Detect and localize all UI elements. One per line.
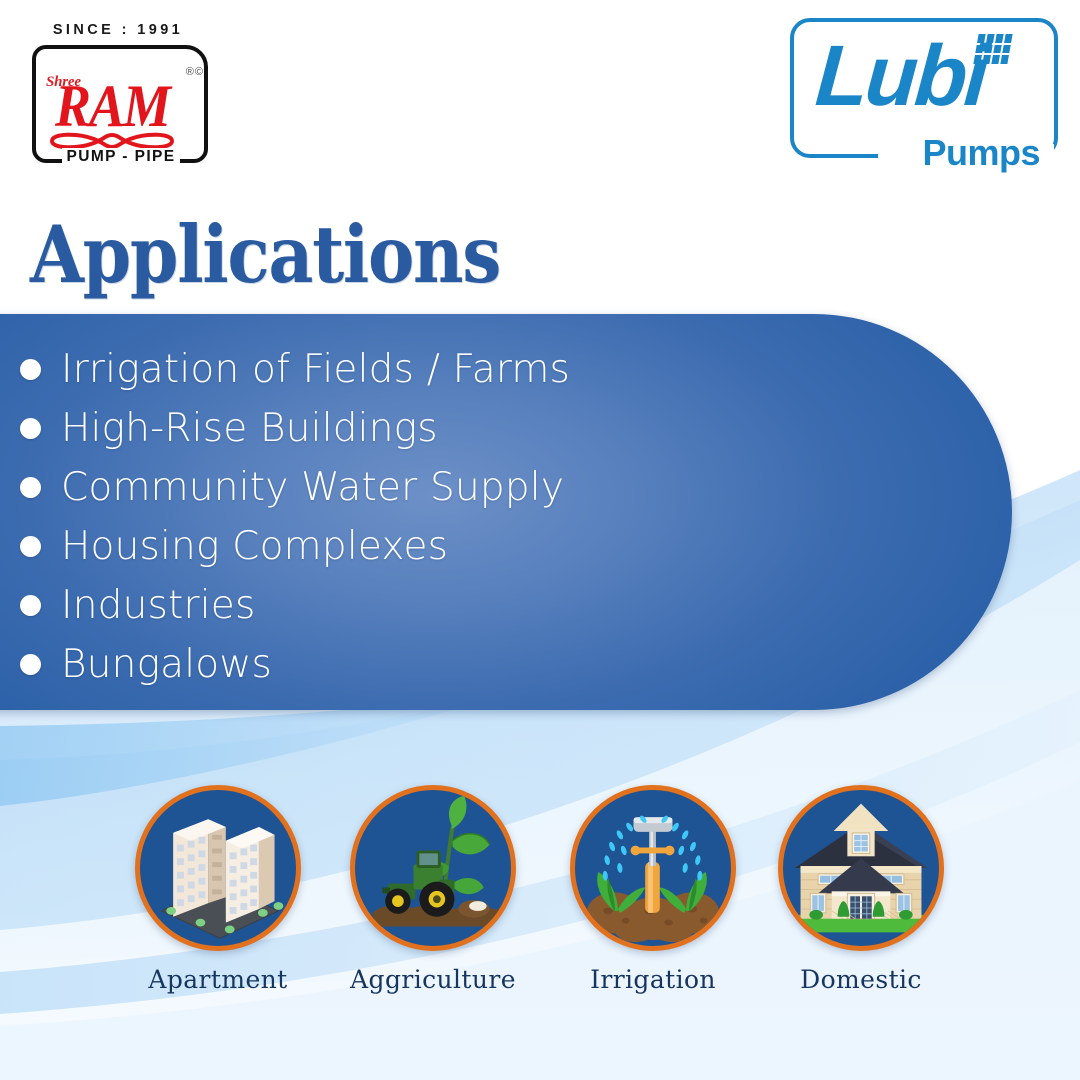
application-label: Irrigation of Fields / Farms: [61, 347, 570, 392]
list-item: Bungalows: [20, 635, 570, 694]
lubi-pumps-logo: Lubi Pumps: [790, 18, 1058, 168]
list-item: High-Rise Buildings: [20, 399, 570, 458]
icon-card-irrigation[interactable]: Irrigation: [570, 785, 736, 994]
icon-label: Irrigation: [570, 965, 736, 994]
bullet-icon: [20, 595, 41, 616]
list-item: Industries: [20, 576, 570, 635]
bullet-icon: [20, 477, 41, 498]
list-item: Housing Complexes: [20, 517, 570, 576]
application-label: Bungalows: [61, 642, 272, 687]
bullet-icon: [20, 536, 41, 557]
ram-since-text: SINCE : 1991: [18, 22, 218, 38]
lubi-wordmark: Lubi: [813, 28, 989, 124]
icon-label: Aggriculture: [350, 965, 516, 994]
page-title: Applications: [30, 212, 500, 298]
tractor-plant-icon: [350, 785, 516, 951]
list-item: Community Water Supply: [20, 458, 570, 517]
application-label: Housing Complexes: [61, 524, 448, 569]
bullet-icon: [20, 654, 41, 675]
poster-canvas: SINCE : 1991 Shree RAM ®© PUMP - PIPE Lu…: [0, 0, 1080, 1080]
icon-card-domestic[interactable]: Domestic: [778, 785, 944, 994]
list-item: Irrigation of Fields / Farms: [20, 340, 570, 399]
icon-label: Apartment: [135, 965, 301, 994]
lubi-sub-wordmark: Pumps: [914, 132, 1048, 174]
ram-wordmark: RAM: [42, 77, 182, 135]
shree-ram-logo: SINCE : 1991 Shree RAM ®© PUMP - PIPE: [18, 22, 218, 168]
application-label: Community Water Supply: [61, 465, 564, 510]
application-label: Industries: [61, 583, 256, 628]
ram-tagline: PUMP - PIPE: [62, 148, 180, 166]
application-label: High-Rise Buildings: [61, 406, 438, 451]
icon-card-agriculture[interactable]: Aggriculture: [350, 785, 516, 994]
bullet-icon: [20, 418, 41, 439]
applications-panel: Irrigation of Fields / Farms High-Rise B…: [0, 314, 1012, 710]
apartment-buildings-icon: [135, 785, 301, 951]
grid-dots-icon: [973, 34, 1012, 64]
icon-card-apartment[interactable]: Apartment: [135, 785, 301, 994]
applications-list: Irrigation of Fields / Farms High-Rise B…: [20, 340, 570, 694]
house-icon: [778, 785, 944, 951]
sprinkler-icon: [570, 785, 736, 951]
icon-label: Domestic: [778, 965, 944, 994]
bullet-icon: [20, 359, 41, 380]
ram-trademark-text: ®©: [186, 66, 204, 78]
